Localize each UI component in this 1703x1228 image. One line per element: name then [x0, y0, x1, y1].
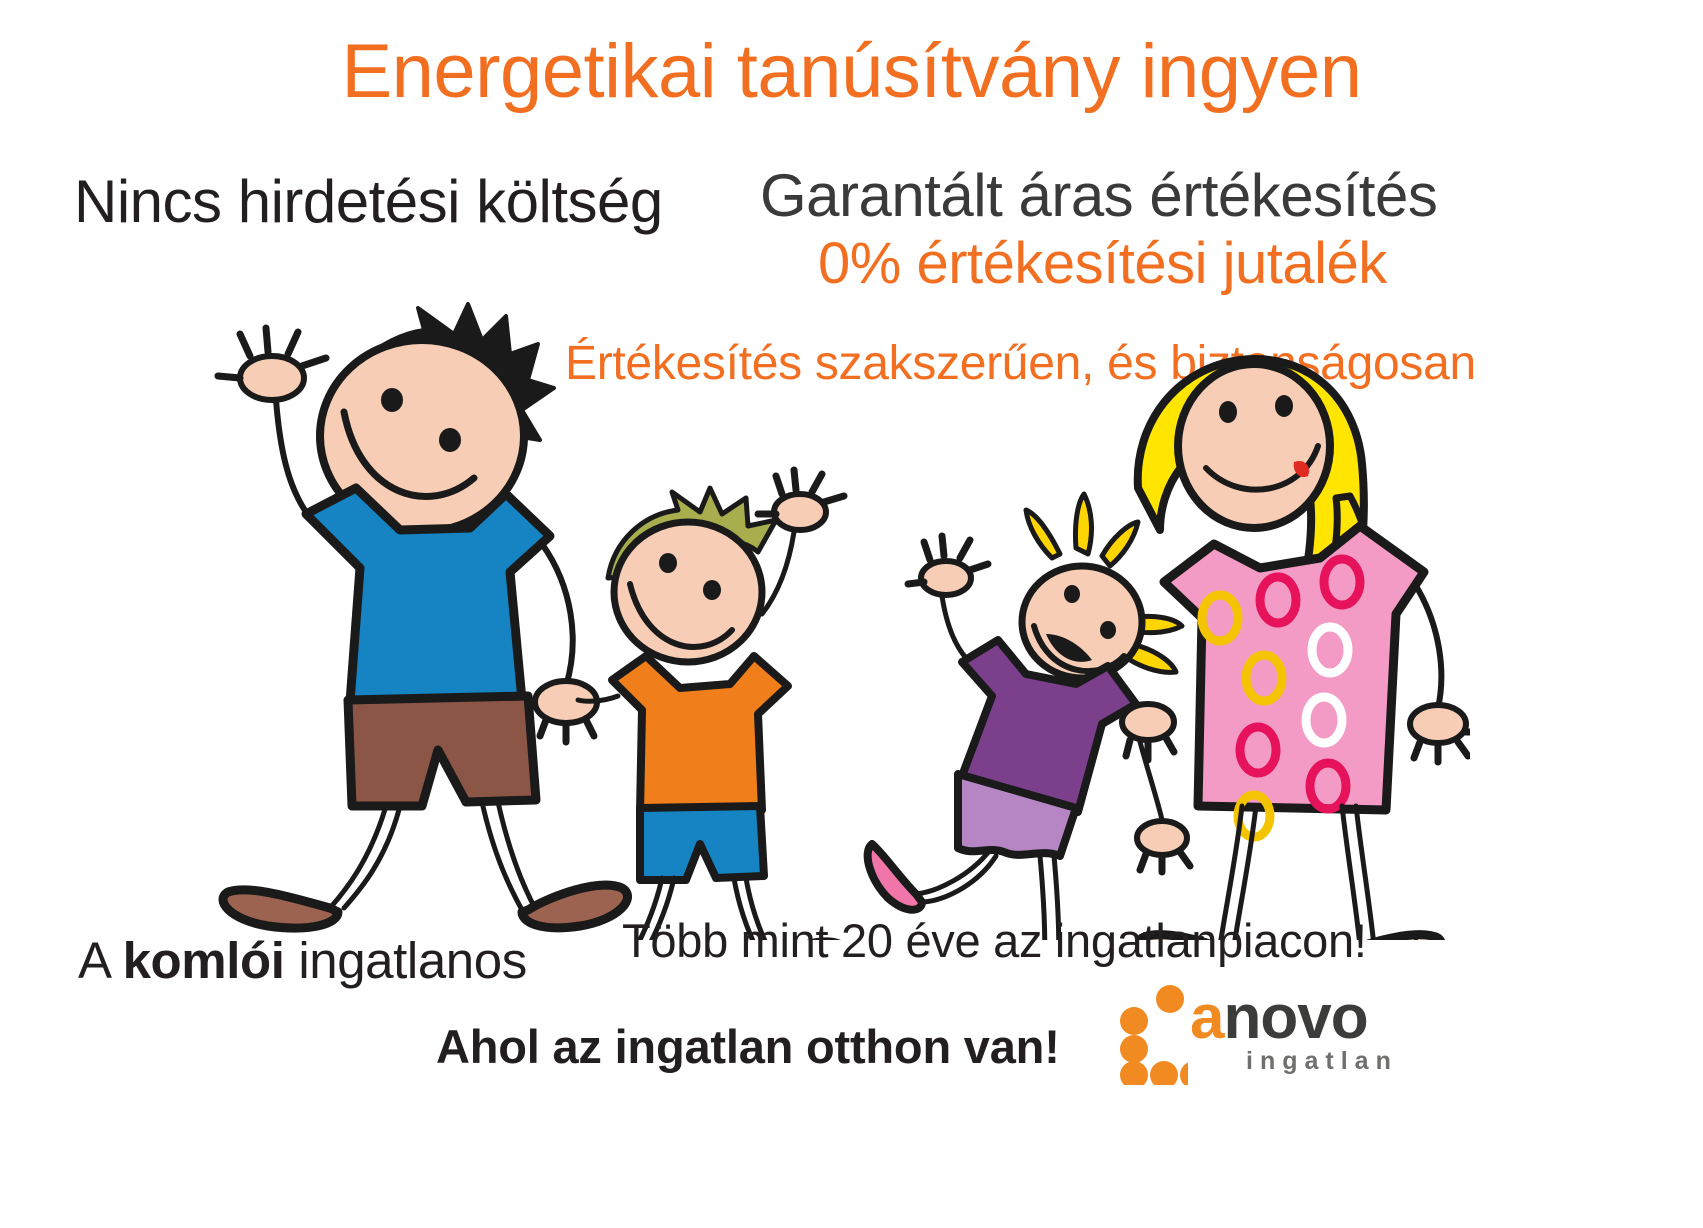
company-slogan: Ahol az ingatlan otthon van!: [436, 1023, 1060, 1070]
claim-guaranteed-price: Garantált áras értékesítés: [760, 166, 1437, 226]
logo-word-novo: novo: [1223, 983, 1367, 1052]
family-illustration: [210, 300, 1470, 940]
poster-canvas: Energetikai tanúsítvány ingyen Nincs hir…: [0, 0, 1703, 1228]
tagline-years-experience: Több mint 20 éve az ingatlanpiacon!: [622, 917, 1367, 964]
girl-raised-hand: [908, 536, 988, 658]
tagline-local-bold: komlói: [123, 932, 285, 989]
claim-no-advertising-cost: Nincs hirdetési költség: [74, 172, 663, 232]
logo-dots-icon: [1118, 985, 1188, 1085]
figure-girl: [868, 494, 1190, 940]
logo-subtitle: ingatlan: [1246, 1047, 1398, 1076]
page-title: Energetikai tanúsítvány ingyen: [0, 34, 1703, 110]
logo-letter-a: a: [1190, 983, 1223, 1052]
boy-right-hand: [758, 470, 844, 614]
tagline-local-agent: A komlói ingatlanos: [78, 935, 527, 986]
claim-zero-commission: 0% értékesítési jutalék: [818, 235, 1387, 293]
figure-father: [218, 304, 628, 928]
figure-mother: [1138, 359, 1470, 940]
anovo-logo[interactable]: anovo ingatlan: [1118, 985, 1398, 1090]
father-left-hand: [218, 328, 326, 512]
tagline-local-suffix: ingatlanos: [285, 932, 527, 989]
tagline-local-prefix: A: [78, 932, 123, 989]
logo-wordmark: anovo: [1190, 987, 1368, 1049]
